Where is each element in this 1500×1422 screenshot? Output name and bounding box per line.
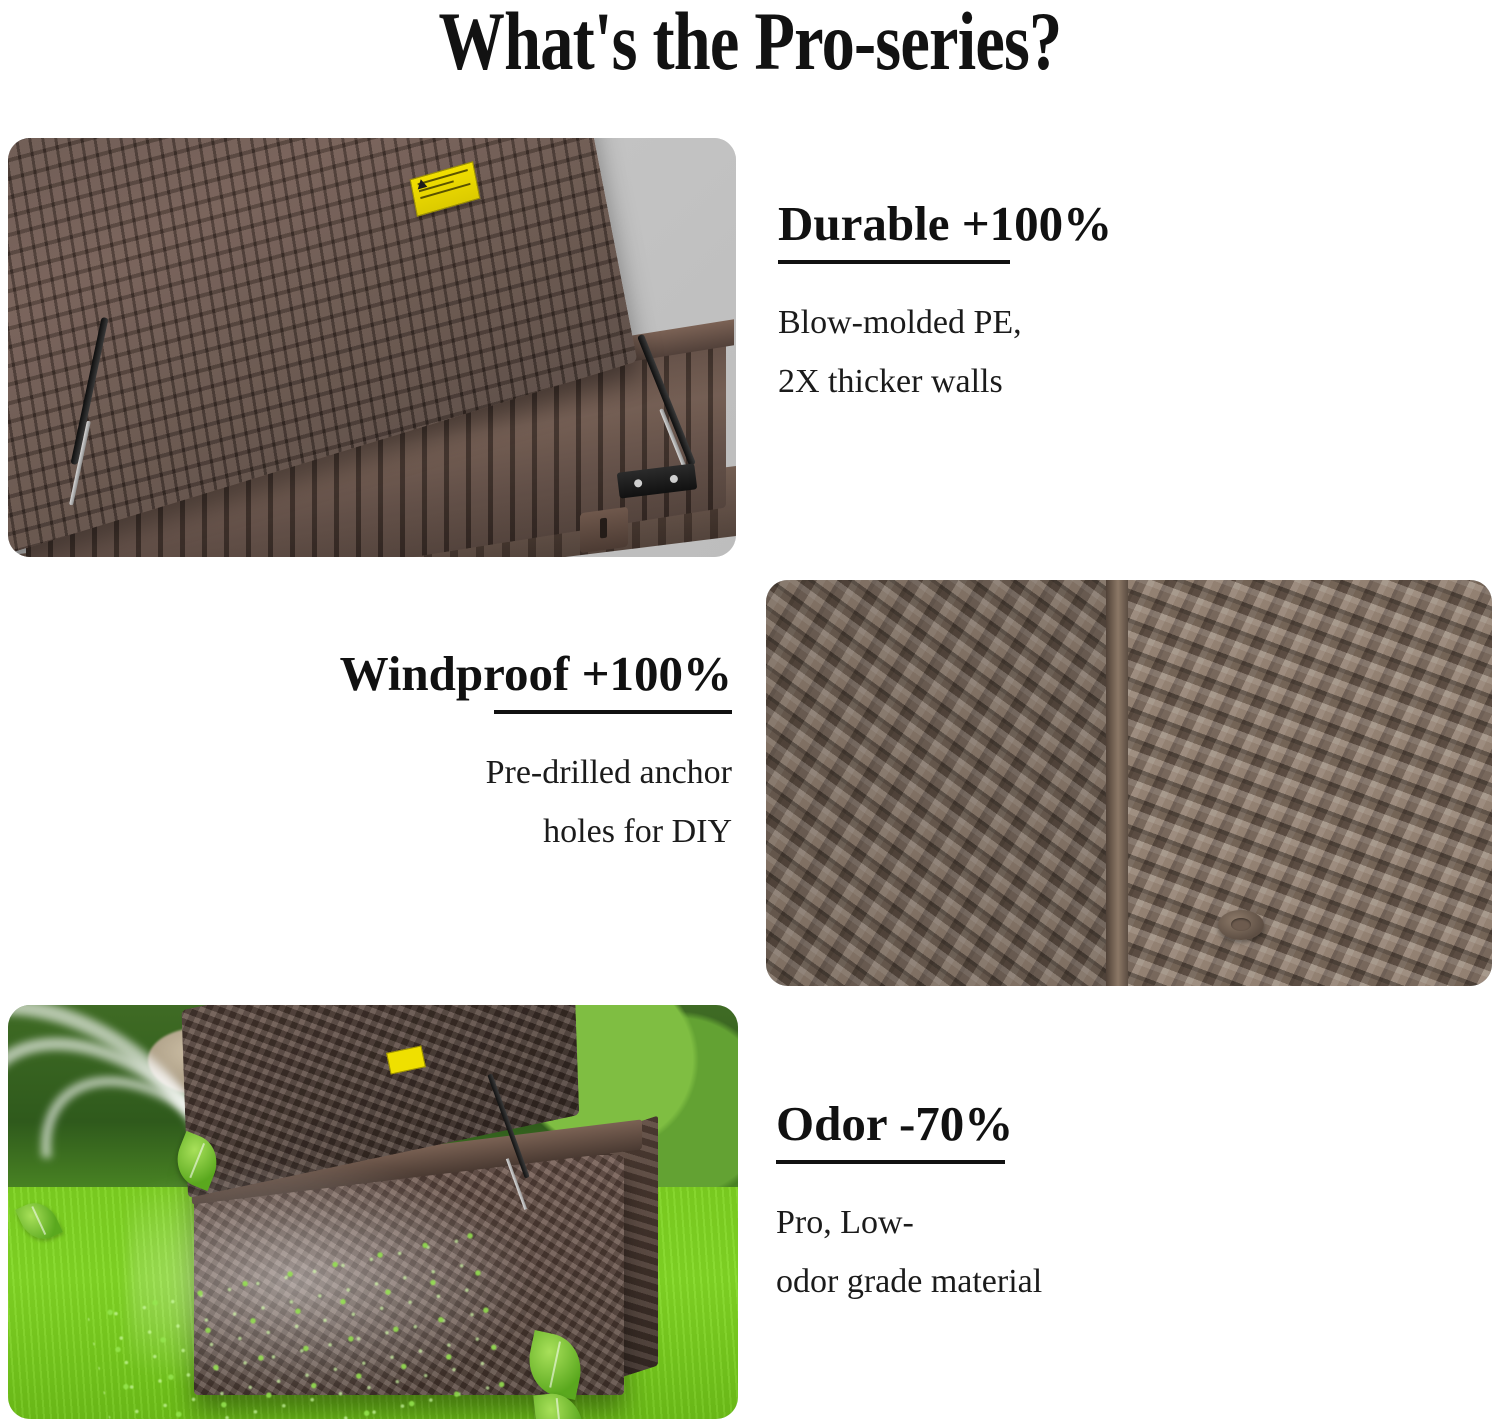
feature-rule-windproof bbox=[494, 710, 732, 714]
wicker-panel-left bbox=[766, 580, 1118, 986]
deck-box-latch bbox=[580, 507, 628, 554]
feature-body-line: Pro, Low- bbox=[776, 1194, 1296, 1252]
corner-edge bbox=[1106, 580, 1128, 986]
feature-block-durable: Durable +100% Blow-molded PE, 2X thicker… bbox=[778, 198, 1298, 411]
feature-body-durable: Blow-molded PE, 2X thicker walls bbox=[778, 294, 1298, 411]
anchor-foot-grommet bbox=[1218, 910, 1264, 940]
feature-body-line: holes for DIY bbox=[210, 803, 732, 861]
feature-heading-durable: Durable +100% bbox=[778, 198, 1298, 249]
feature-body-line: Blow-molded PE, bbox=[778, 294, 1298, 352]
wicker-panel-right bbox=[1118, 580, 1492, 986]
feature-body-windproof: Pre-drilled anchor holes for DIY bbox=[210, 744, 732, 861]
wicker-texture-photo bbox=[766, 580, 1492, 986]
feature-block-odor: Odor -70% Pro, Low- odor grade material bbox=[776, 1098, 1296, 1311]
feature-rule-durable bbox=[778, 260, 1010, 264]
open-deck-box-photo bbox=[8, 138, 736, 557]
feature-body-line: 2X thicker walls bbox=[778, 353, 1298, 411]
feature-heading-odor: Odor -70% bbox=[776, 1098, 1296, 1149]
feature-rule-odor bbox=[776, 1160, 1005, 1164]
lawn-scene-photo bbox=[8, 1005, 738, 1419]
feature-body-line: Pre-drilled anchor bbox=[210, 744, 732, 802]
feature-block-windproof: Windproof +100% Pre-drilled anchor holes… bbox=[210, 648, 732, 861]
feature-heading-windproof: Windproof +100% bbox=[210, 648, 732, 699]
feature-body-line: odor grade material bbox=[776, 1253, 1296, 1311]
page-title: What's the Pro-series? bbox=[150, 0, 1350, 87]
feature-body-odor: Pro, Low- odor grade material bbox=[776, 1194, 1296, 1311]
